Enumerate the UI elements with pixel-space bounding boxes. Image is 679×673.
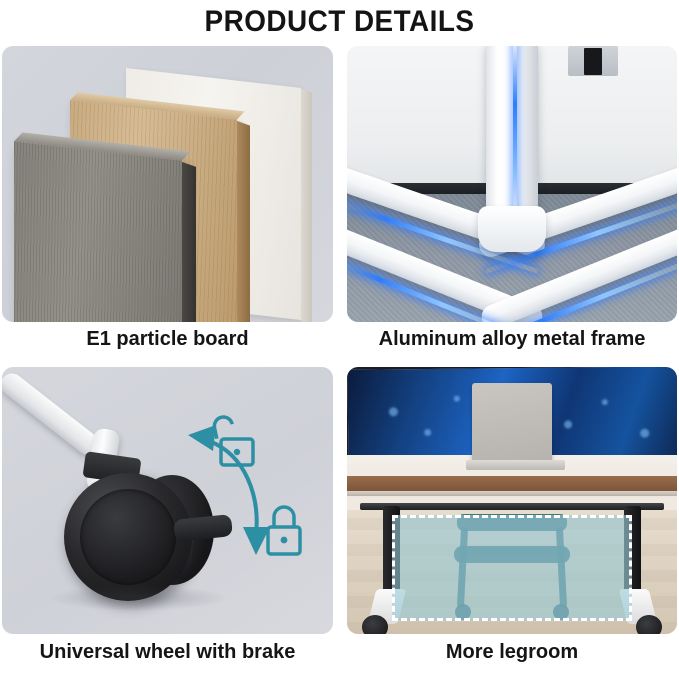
detail-card-e1-particle-board[interactable] <box>2 46 333 322</box>
desk-caster-right <box>636 615 662 634</box>
caption-e1-particle-board: E1 particle board <box>2 328 333 351</box>
curved-arrow-path <box>209 441 257 535</box>
desk-top-surface <box>347 476 677 491</box>
desk-frame-rail <box>360 503 664 510</box>
photo-e1-particle-board <box>2 46 333 322</box>
laptop-base <box>466 460 565 469</box>
caption-universal-wheel-with-brake: Universal wheel with brake <box>2 641 333 664</box>
board-grey <box>14 141 182 322</box>
product-details-infographic: PRODUCT DETAILS E1 particle board <box>0 0 679 673</box>
detail-card-aluminum-alloy-metal-frame[interactable] <box>347 46 677 322</box>
board-grey-edge <box>182 162 196 322</box>
brake-annotation-group <box>2 367 333 634</box>
desk-caster-left <box>362 615 388 634</box>
wall-socket <box>568 46 618 76</box>
legroom-highlight-box <box>392 515 633 620</box>
photo-universal-wheel-with-brake <box>2 367 333 634</box>
desk-top-edge <box>347 491 677 496</box>
photo-more-legroom <box>347 367 677 634</box>
caption-more-legroom: More legroom <box>347 641 677 664</box>
frame-joint-hub <box>478 206 546 252</box>
board-white-edge <box>301 89 312 322</box>
frame-center-column <box>486 46 538 220</box>
caption-aluminum-alloy-metal-frame: Aluminum alloy metal frame <box>347 328 677 351</box>
page-title: PRODUCT DETAILS <box>24 0 655 44</box>
board-oak-edge <box>237 121 250 322</box>
detail-card-more-legroom[interactable] <box>347 367 677 634</box>
detail-card-universal-wheel-with-brake[interactable] <box>2 367 333 634</box>
photo-aluminum-alloy-metal-frame <box>347 46 677 322</box>
curved-arrow-head-down <box>243 527 270 555</box>
laptop-screen <box>472 383 551 463</box>
curved-arrow-head-up <box>188 425 216 451</box>
column-blue-streak <box>513 46 517 220</box>
lock-icon <box>268 507 300 554</box>
